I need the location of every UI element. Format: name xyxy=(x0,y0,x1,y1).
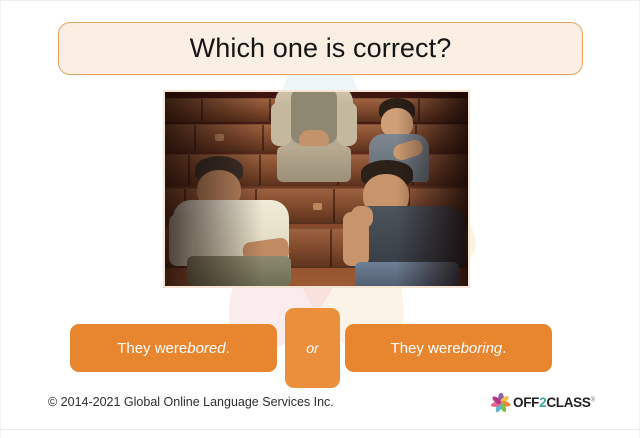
lesson-image xyxy=(165,92,468,286)
copyright-notice: © 2014-2021 Global Online Language Servi… xyxy=(48,395,334,409)
page-title: Which one is correct? xyxy=(190,35,452,62)
answer-suffix: . xyxy=(502,340,506,357)
logo-text-class: CLASS xyxy=(546,395,590,410)
answer-prefix: They were xyxy=(117,340,187,357)
off2class-logo: OFF2CLASS® xyxy=(490,390,600,416)
answer-suffix: . xyxy=(226,340,230,357)
question-banner: Which one is correct? xyxy=(58,22,583,75)
viewer-frame-top xyxy=(0,0,640,1)
logo-burst-icon xyxy=(490,392,512,414)
logo-trademark: ® xyxy=(591,398,595,404)
answer-option-bored[interactable]: They were bored. xyxy=(70,324,277,372)
viewer-frame-left xyxy=(0,0,1,438)
photo-shadow-left xyxy=(165,92,280,286)
photo-shadow-right xyxy=(389,92,468,286)
connector-label: or xyxy=(306,340,318,356)
slide-canvas: Which one is correct? xyxy=(0,0,640,438)
answer-prefix: They were xyxy=(391,340,461,357)
answer-keyword: bored xyxy=(187,340,225,357)
viewer-frame-bottom xyxy=(0,429,640,430)
logo-wordmark: OFF2CLASS® xyxy=(513,396,595,410)
answer-option-boring[interactable]: They were boring. xyxy=(345,324,552,372)
logo-text-off: OFF xyxy=(513,395,539,410)
lesson-image-frame xyxy=(163,90,470,288)
answer-keyword: boring xyxy=(461,340,503,357)
connector-or: or xyxy=(285,308,340,388)
